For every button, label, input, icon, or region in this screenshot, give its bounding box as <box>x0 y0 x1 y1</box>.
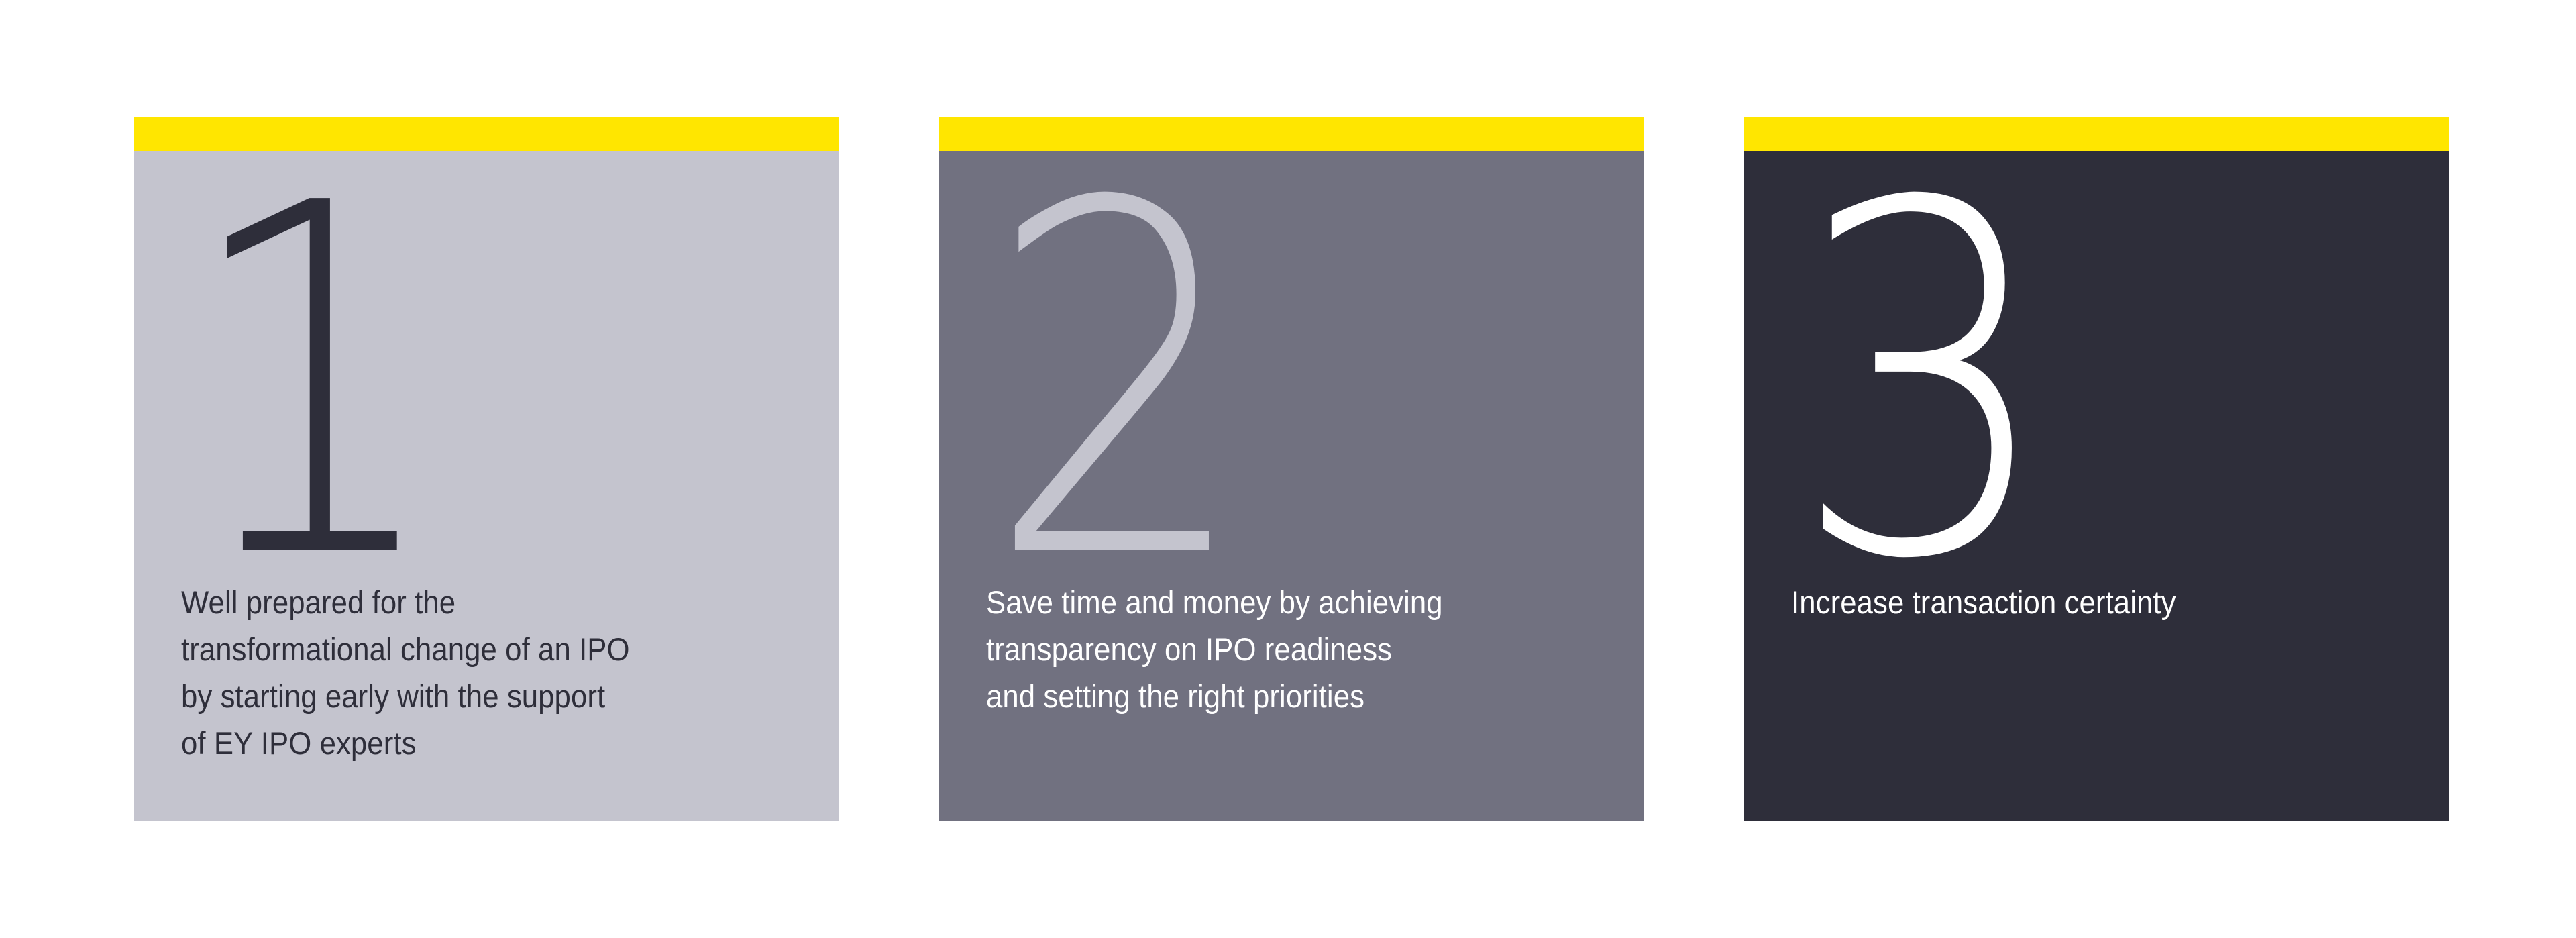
benefit-card-3: 3 Increase transaction certainty <box>1744 117 2449 821</box>
card-text-3: Increase transaction certainty <box>1791 579 2371 626</box>
benefit-card-1: 1 Well prepared for the transformational… <box>134 117 839 821</box>
card-text-2: Save time and money by achieving transpa… <box>986 579 1566 720</box>
benefit-card-2: 2 Save time and money by achieving trans… <box>939 117 1644 821</box>
card-number-3: 3 <box>1791 182 2051 584</box>
infographic-canvas: 1 Well prepared for the transformational… <box>0 0 2576 938</box>
card-number-1: 1 <box>181 182 441 584</box>
card-text-1: Well prepared for the transformational c… <box>181 579 761 767</box>
card-number-2: 2 <box>986 182 1246 584</box>
